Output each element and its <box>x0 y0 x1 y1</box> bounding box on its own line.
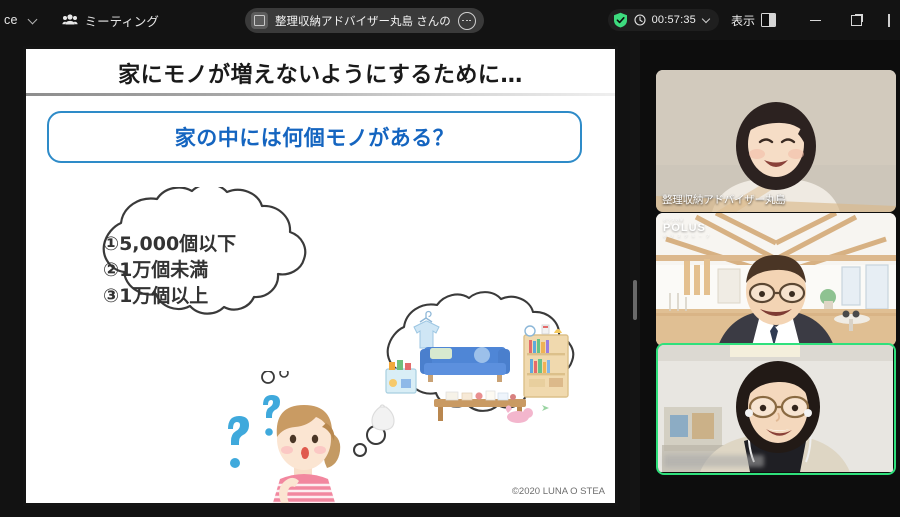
minimize-button[interactable] <box>794 0 836 40</box>
window-titlebar: ce ミーティング 整理収納アドバイザー丸島 さんの <box>0 0 900 40</box>
meeting-elapsed-time: 00:57:35 <box>652 14 696 26</box>
chevron-down-icon[interactable] <box>28 14 40 26</box>
chevron-down-icon[interactable] <box>702 15 712 25</box>
options-thought-cloud: ①5,000個以下 ②1万個未満 ③1万個以上 <box>61 187 351 347</box>
minimize-icon <box>810 20 821 21</box>
view-button-label: 表示 <box>731 12 755 29</box>
slide-title: 家にモノが増えないようにするために… <box>26 57 615 89</box>
clock-icon <box>634 14 646 26</box>
character-with-question-marks <box>208 371 358 506</box>
meeting-tab-label: ミーティング <box>85 11 159 30</box>
question-text: 家の中には何個モノがある？ <box>175 122 455 152</box>
participant-tile[interactable]: 整理収納アドバイザー丸島 <box>656 70 896 212</box>
participant-video-feed <box>656 70 896 212</box>
close-icon <box>888 14 890 27</box>
meeting-timer-group[interactable]: 00:57:35 <box>608 9 719 31</box>
polus-watermark-logo: ポラスの家 POLUS ポ ラ ス グ ル ー プ <box>663 218 711 238</box>
layout-view-icon <box>761 13 776 27</box>
room-illustration <box>346 287 611 462</box>
shared-screen-stage[interactable]: 家にモノが増えないようにするために… 家の中には何個モノがある？ ①5,000個… <box>0 40 640 517</box>
more-options-icon[interactable] <box>458 12 476 30</box>
option-item-1: ①5,000個以下 <box>103 231 236 257</box>
sharing-user-label: 整理収納アドバイザー丸島 さんの <box>275 13 451 29</box>
title-divider-rule <box>26 93 615 96</box>
polus-logo-bottom-line: ポ ラ ス グ ル ー プ <box>663 233 711 238</box>
blurred-overlay <box>664 455 764 467</box>
option-item-2: ②1万個未満 <box>103 257 236 283</box>
question-callout-box: 家の中には何個モノがある？ <box>47 111 582 163</box>
thinking-character-illustration <box>208 371 358 506</box>
share-screen-icon <box>251 12 268 29</box>
options-list: ①5,000個以下 ②1万個未満 ③1万個以上 <box>103 231 236 310</box>
restore-button[interactable] <box>836 0 878 40</box>
option-item-3: ③1万個以上 <box>103 283 236 309</box>
panel-divider[interactable] <box>630 40 640 517</box>
presentation-slide: 家にモノが増えないようにするために… 家の中には何個モノがある？ ①5,000個… <box>23 46 618 506</box>
slide-copyright: ©2020 LUNA O STEA <box>512 486 605 497</box>
meeting-tab[interactable]: ミーティング <box>62 11 159 30</box>
divider-drag-handle[interactable] <box>633 280 637 320</box>
titlebar-left-group: ce ミーティング <box>0 11 244 30</box>
close-button[interactable] <box>878 0 900 40</box>
participant-name-label: 整理収納アドバイザー丸島 <box>662 192 786 207</box>
participant-tile-active-speaker[interactable] <box>656 343 896 475</box>
restore-icon <box>851 14 863 26</box>
video-conference-window: ce ミーティング 整理収納アドバイザー丸島 さんの <box>0 0 900 517</box>
security-shield-icon[interactable] <box>613 12 628 28</box>
titlebar-right-group: 00:57:35 表示 <box>608 0 900 40</box>
app-tab-label[interactable]: ce <box>4 13 18 27</box>
people-icon <box>62 12 78 28</box>
room-thought-cloud <box>346 287 611 462</box>
participant-video-feed <box>658 345 893 472</box>
participant-video-panel: 整理収納アドバイザー丸島 <box>640 40 900 517</box>
screen-share-indicator[interactable]: 整理収納アドバイザー丸島 さんの <box>245 8 484 33</box>
participant-tile[interactable]: ポラスの家 POLUS ポ ラ ス グ ル ー プ <box>656 213 896 346</box>
view-layout-button[interactable]: 表示 <box>731 12 776 29</box>
